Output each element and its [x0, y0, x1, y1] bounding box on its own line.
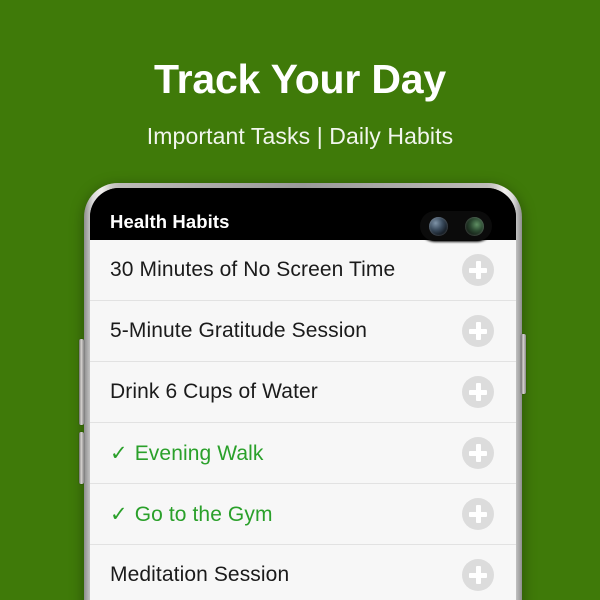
habit-label: ✓Evening Walk [110, 441, 264, 466]
phone-mockup: Health Habits 30 Minutes of No Screen Ti… [84, 183, 522, 600]
phone-screen-frame: Health Habits 30 Minutes of No Screen Ti… [90, 188, 516, 600]
habit-label: 5-Minute Gratitude Session [110, 319, 367, 343]
habit-label: 30 Minutes of No Screen Time [110, 258, 395, 282]
habit-label-text: 30 Minutes of No Screen Time [110, 258, 395, 281]
habit-row[interactable]: ✓Evening Walk [90, 423, 516, 484]
promo-graphic: Track Your Day Important Tasks | Daily H… [0, 0, 600, 600]
app-screen: 30 Minutes of No Screen Time5-Minute Gra… [90, 240, 516, 600]
volume-up-button[interactable] [79, 339, 84, 425]
habit-row[interactable]: Drink 6 Cups of Water [90, 362, 516, 423]
plus-icon[interactable] [462, 315, 494, 347]
habit-label-text: Meditation Session [110, 563, 289, 586]
plus-icon[interactable] [462, 559, 494, 591]
check-icon: ✓ [110, 502, 128, 527]
habit-label: Drink 6 Cups of Water [110, 380, 318, 404]
habit-label-text: Evening Walk [135, 442, 264, 465]
camera-lens-icon [465, 217, 484, 236]
habit-label-text: Go to the Gym [135, 503, 273, 526]
habit-label: Meditation Session [110, 563, 289, 587]
plus-icon[interactable] [462, 376, 494, 408]
habit-row[interactable]: 30 Minutes of No Screen Time [90, 240, 516, 301]
habit-row[interactable]: ✓Go to the Gym [90, 484, 516, 545]
habit-row[interactable]: Meditation Session [90, 545, 516, 600]
camera-lens-icon [429, 217, 448, 236]
app-bar-title: Health Habits [110, 211, 230, 233]
page-title: Track Your Day [0, 0, 600, 101]
habit-label: ✓Go to the Gym [110, 502, 273, 527]
habit-label-text: Drink 6 Cups of Water [110, 380, 318, 403]
check-icon: ✓ [110, 441, 128, 466]
habit-label-text: 5-Minute Gratitude Session [110, 319, 367, 342]
habit-row[interactable]: 5-Minute Gratitude Session [90, 301, 516, 362]
plus-icon[interactable] [462, 254, 494, 286]
dual-camera-icon [420, 211, 492, 241]
power-button[interactable] [521, 334, 526, 394]
plus-icon[interactable] [462, 498, 494, 530]
plus-icon[interactable] [462, 437, 494, 469]
volume-down-button[interactable] [79, 432, 84, 484]
habit-list: 30 Minutes of No Screen Time5-Minute Gra… [90, 240, 516, 600]
page-subtitle: Important Tasks | Daily Habits [0, 101, 600, 150]
promo-text-block: Track Your Day Important Tasks | Daily H… [0, 0, 600, 150]
